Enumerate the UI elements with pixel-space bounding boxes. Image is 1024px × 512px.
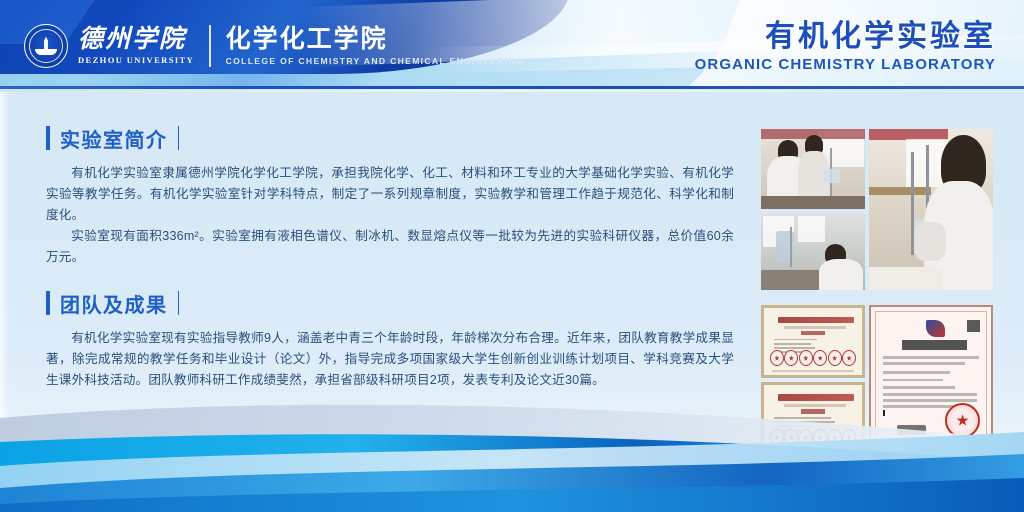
photo-instrument-bench (761, 213, 865, 290)
cert-invention-patent (869, 305, 993, 458)
heading-bar-right (178, 291, 180, 315)
section-title-team-results: 团队及成果 (60, 289, 168, 318)
patent-certificate-art (869, 305, 993, 458)
heading-bar-left (46, 126, 50, 150)
lab-scene-art (761, 129, 865, 209)
university-name-group: 德州学院 DEZHOU UNIVERSITY (78, 27, 194, 65)
section-team-results: 团队及成果 有机化学实验室现有实验指导教师9人，涵盖老中青三个年龄时段，年龄梯次… (46, 289, 746, 391)
section-heading-lab-intro: 实验室简介 (46, 124, 746, 152)
university-name-en: DEZHOU UNIVERSITY (78, 55, 194, 65)
page-content: 实验室简介 有机化学实验室隶属德州学院化学化工学院，承担我院化学、化工、材料和环… (0, 92, 1024, 512)
college-name-group: 化学化工学院 COLLEGE OF CHEMISTRY AND CHEMICAL… (226, 26, 525, 67)
page-title-block: 有机化学实验室 ORGANIC CHEMISTRY LABORATORY (695, 20, 996, 73)
poster-page: 德州学院 DEZHOU UNIVERSITY 化学化工学院 COLLEGE OF… (0, 0, 1024, 512)
heading-bar-left (46, 291, 50, 315)
page-title-en: ORGANIC CHEMISTRY LABORATORY (695, 56, 996, 73)
section-lab-intro: 实验室简介 有机化学实验室隶属德州学院化学化工学院，承担我院化学、化工、材料和环… (46, 124, 746, 268)
college-name-cn: 化学化工学院 (226, 26, 525, 54)
section-heading-team-results: 团队及成果 (46, 289, 746, 317)
section-body-team-results: 有机化学实验室现有实验指导教师9人，涵盖老中青三个年龄时段，年龄梯次分布合理。近… (46, 328, 734, 391)
lab-scene-art (761, 213, 865, 290)
seal-inner-glyph (38, 37, 54, 55)
paragraph: 有机化学实验室隶属德州学院化学化工学院，承担我院化学、化工、材料和环工专业的大学… (46, 163, 734, 226)
university-name-cn: 德州学院 (78, 27, 194, 53)
university-seal-icon (24, 24, 68, 68)
photo-students-titration (761, 129, 865, 209)
certificate-art (761, 305, 865, 378)
heading-bar-right (178, 126, 180, 150)
cert-honor-second-prize (761, 305, 865, 378)
paragraph: 实验室现有面积336m²。实验室拥有液相色谱仪、制冰机、数显熔点仪等一批较为先进… (46, 226, 734, 268)
seal-inner-base (35, 49, 57, 55)
section-body-lab-intro: 有机化学实验室隶属德州学院化学化工学院，承担我院化学、化工、材料和环工专业的大学… (46, 163, 734, 268)
college-name-en: COLLEGE OF CHEMISTRY AND CHEMICAL ENGINE… (226, 56, 525, 66)
logo-divider (209, 25, 211, 67)
photo-gallery (761, 129, 993, 463)
page-header: 德州学院 DEZHOU UNIVERSITY 化学化工学院 COLLEGE OF… (0, 0, 1024, 92)
lab-scene-art (869, 129, 993, 290)
page-title-cn: 有机化学实验室 (695, 20, 996, 53)
cert-honor-third-prize (761, 382, 865, 458)
certificate-art (761, 382, 865, 458)
section-title-lab-intro: 实验室简介 (60, 124, 168, 153)
institution-logo-block: 德州学院 DEZHOU UNIVERSITY 化学化工学院 COLLEGE OF… (24, 18, 524, 74)
photo-student-apparatus (869, 129, 993, 290)
paragraph: 有机化学实验室现有实验指导教师9人，涵盖老中青三个年龄时段，年龄梯次分布合理。近… (46, 328, 734, 391)
